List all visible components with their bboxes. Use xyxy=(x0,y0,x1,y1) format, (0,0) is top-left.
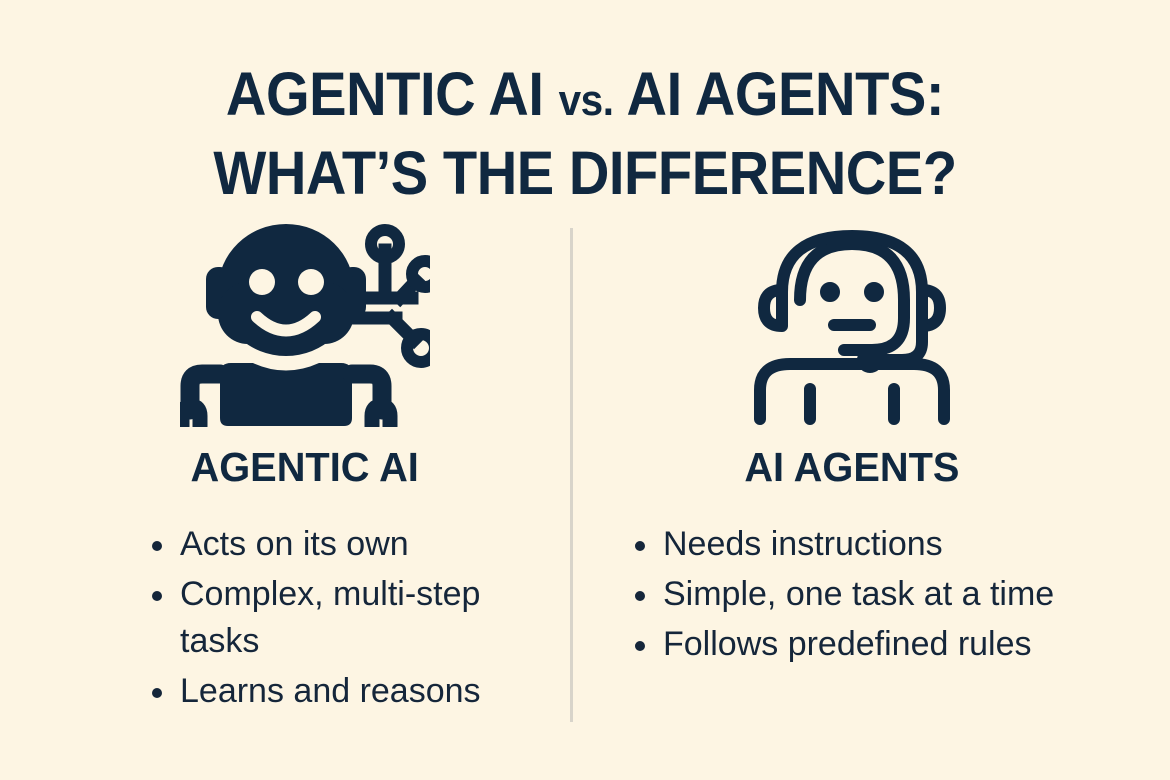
microphone-tip-icon xyxy=(857,347,883,373)
title-vs-label: vs. xyxy=(559,76,614,125)
title-line-2: WHAT’S THE DIFFERENCE? xyxy=(47,137,1123,209)
page-title: AGENTIC AI vs. AI AGENTS: WHAT’S THE DIF… xyxy=(0,58,1170,209)
list-item: Needs instructions xyxy=(633,521,1142,568)
title-line-1-part2: AI AGENTS: xyxy=(613,60,944,128)
list-item: Follows predefined rules xyxy=(633,621,1142,668)
column-agentic-ai: AGENTIC AI Acts on its own Complex, mult… xyxy=(0,222,571,742)
list-item-label: Learns and reasons xyxy=(180,672,481,710)
bullet-dot-icon xyxy=(635,591,645,601)
infographic-root: AGENTIC AI vs. AI AGENTS: WHAT’S THE DIF… xyxy=(0,0,1170,780)
bullet-list-ai-agents: Needs instructions Simple, one task at a… xyxy=(571,521,1170,671)
list-item: Acts on its own xyxy=(150,521,541,568)
heading-ai-agents: AI AGENTS xyxy=(744,443,959,491)
list-item-label: Simple, one task at a time xyxy=(663,575,1054,613)
list-item-label: Complex, multi-step tasks xyxy=(180,575,480,660)
robot-head-circuit-icon xyxy=(180,222,430,427)
list-item: Complex, multi-step tasks xyxy=(150,571,541,665)
bullet-list-agentic-ai: Acts on its own Complex, multi-step task… xyxy=(0,521,571,718)
title-line-1: AGENTIC AI vs. AI AGENTS: xyxy=(47,58,1123,137)
ai-agents-icon-wrap xyxy=(552,222,1170,427)
title-line-1-part1: AGENTIC AI xyxy=(226,60,559,128)
headset-support-agent-icon xyxy=(752,222,952,427)
bullet-dot-icon xyxy=(635,541,645,551)
list-item-label: Needs instructions xyxy=(663,525,943,563)
comparison-columns: AGENTIC AI Acts on its own Complex, mult… xyxy=(0,222,1170,742)
bullet-dot-icon xyxy=(152,591,162,601)
bullet-dot-icon xyxy=(152,541,162,551)
bullet-dot-icon xyxy=(635,641,645,651)
bullet-dot-icon xyxy=(152,688,162,698)
list-item: Learns and reasons xyxy=(150,668,541,715)
heading-agentic-ai: AGENTIC AI xyxy=(190,443,418,491)
list-item: Simple, one task at a time xyxy=(633,571,1142,618)
agentic-ai-icon-wrap xyxy=(0,222,590,427)
list-item-label: Follows predefined rules xyxy=(663,625,1032,663)
column-ai-agents: AI AGENTS Needs instructions Simple, one… xyxy=(571,222,1170,742)
list-item-label: Acts on its own xyxy=(180,525,409,563)
